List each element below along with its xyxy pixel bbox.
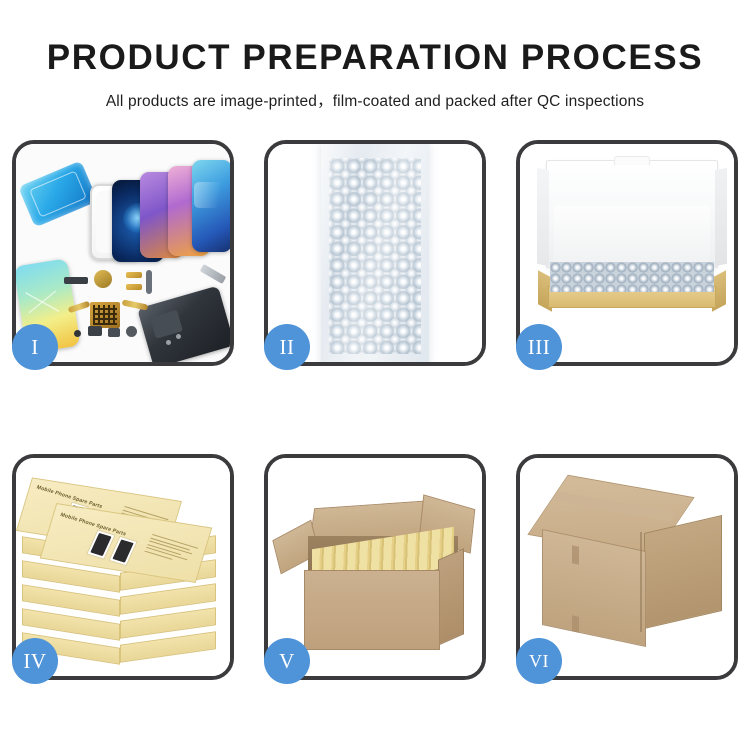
carton-seam-upper: [572, 545, 579, 564]
step-badge-4: IV: [12, 638, 58, 684]
carton-right-side: [438, 548, 464, 646]
antenna-flex-cable: [122, 299, 149, 310]
screen-protector-film: [18, 160, 98, 227]
bubble-wrap-pouch: [321, 144, 429, 362]
lid-notch: [614, 156, 650, 165]
phone-back-housing: [137, 286, 230, 362]
step-badge-3: III: [516, 324, 562, 370]
button-flex-part: [126, 272, 142, 278]
bubble-wrapped-contents: [550, 262, 714, 292]
step-card-1: I: [12, 140, 234, 366]
step-card-6: VI: [516, 454, 738, 680]
step-badge-5: V: [264, 638, 310, 684]
steps-grid: I II: [12, 140, 738, 680]
connector-grid-part: [90, 302, 120, 328]
sim-tray-part: [64, 277, 88, 284]
box-spec-lines-front: [144, 534, 199, 567]
step-badge-1: I: [12, 324, 58, 370]
speaker-part: [94, 270, 112, 288]
product-preparation-infographic: PRODUCT PREPARATION PROCESS All products…: [0, 0, 750, 750]
step-card-2: II: [264, 140, 486, 366]
phone-screen-gradient: [192, 160, 230, 252]
volume-button-part: [146, 270, 152, 294]
plastic-sheen: [321, 144, 429, 362]
carton-seam-lower: [572, 615, 579, 632]
battery-connector-part: [88, 326, 102, 336]
step-badge-6: VI: [516, 638, 562, 684]
step-card-5: V: [264, 454, 486, 680]
earpiece-mesh-part: [108, 328, 120, 337]
tweezers-tool: [200, 264, 227, 284]
power-flex-part: [126, 284, 142, 290]
step-card-4: Mobile Phone Spare Parts Mobile Phone Sp…: [12, 454, 234, 680]
step-card-3: III: [516, 140, 738, 366]
camera-lens-part: [74, 330, 81, 337]
box-label-front: Mobile Phone Spare Parts: [59, 512, 127, 537]
vibrator-motor-part: [126, 326, 137, 337]
page-title: PRODUCT PREPARATION PROCESS: [0, 38, 750, 78]
screw-set-part: [166, 340, 171, 345]
header: PRODUCT PREPARATION PROCESS All products…: [0, 0, 750, 111]
carton-side-face: [644, 515, 722, 629]
page-subtitle: All products are image-printed，film-coat…: [0, 89, 750, 111]
step-badge-2: II: [264, 324, 310, 370]
carton-front-face: [304, 570, 440, 650]
screw-set-part-2: [176, 334, 181, 339]
carton-vertical-edge: [640, 532, 642, 632]
